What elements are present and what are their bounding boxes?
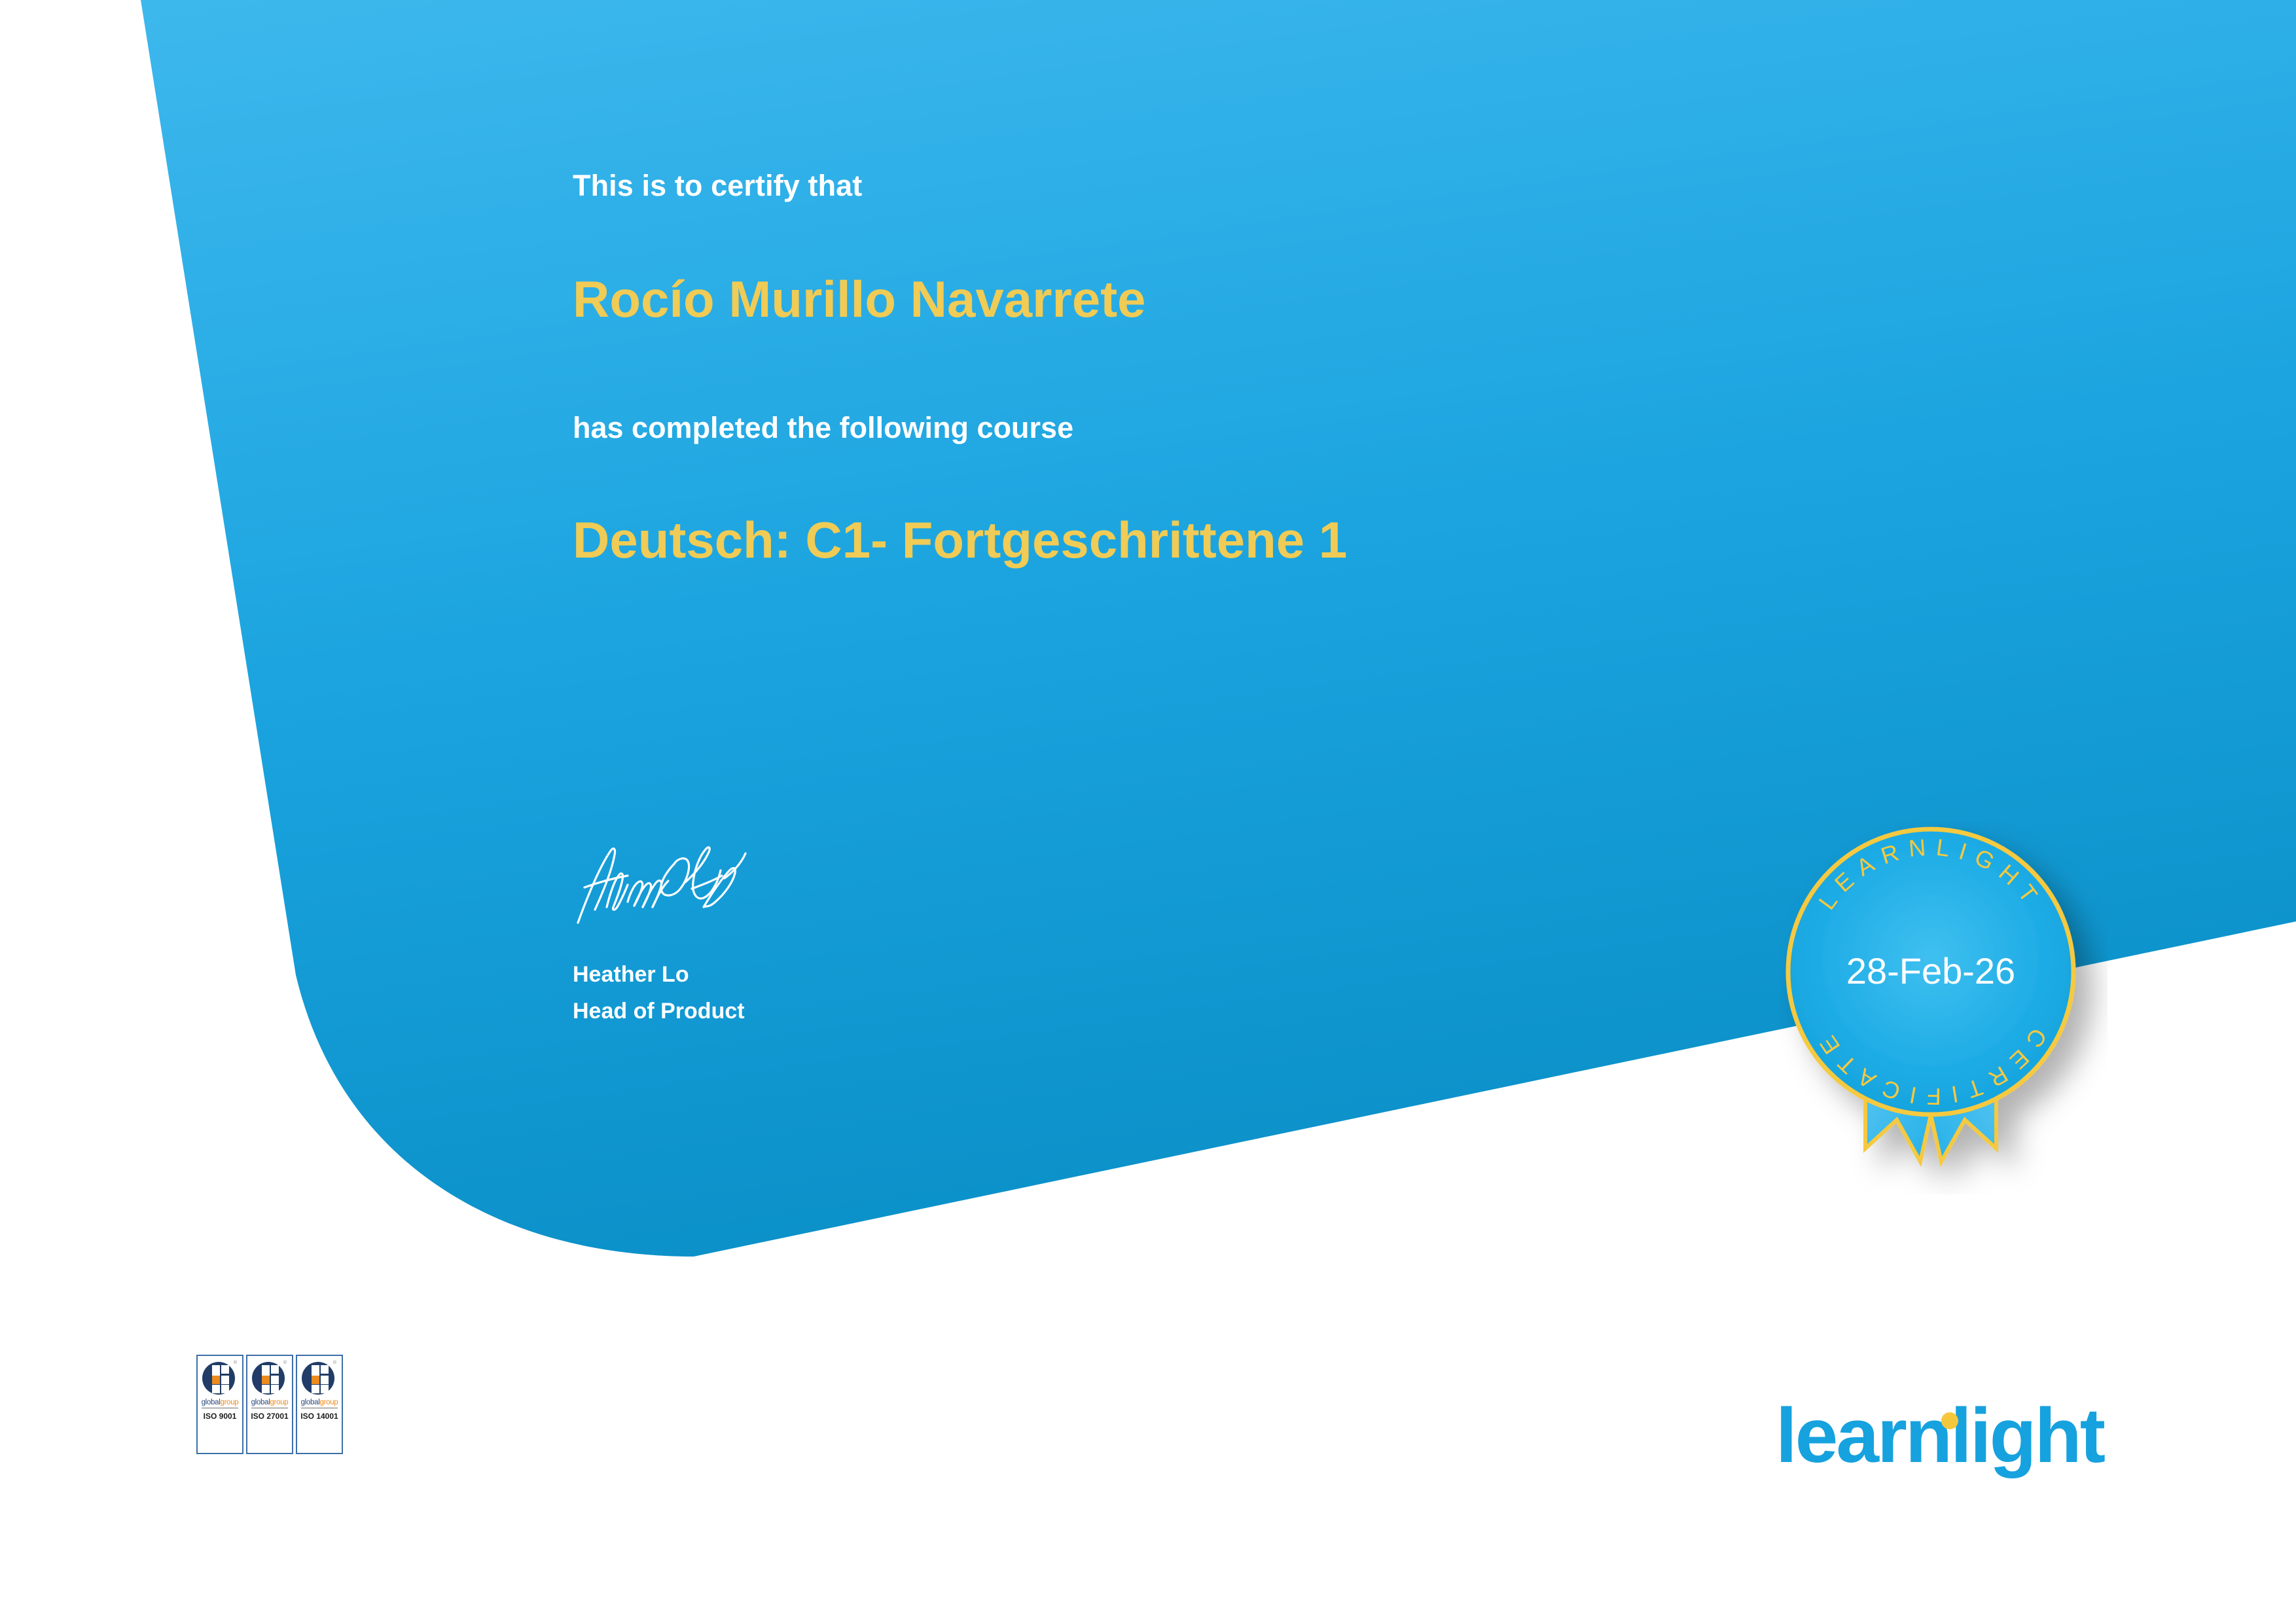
course-name: Deutsch: C1- Fortgeschrittene 1 xyxy=(573,510,1347,570)
signature-image xyxy=(573,844,808,936)
globalgroup-wordmark: globalgroup xyxy=(301,1399,338,1408)
globalgroup-word-group: group xyxy=(319,1399,338,1406)
globalgroup-logo-icon: ® xyxy=(251,1360,288,1397)
signer-title: Head of Product xyxy=(573,999,745,1024)
globalgroup-word-global: global xyxy=(301,1399,320,1406)
iso-standard-label: ISO 27001 xyxy=(251,1412,288,1421)
globalgroup-wordmark: globalgroup xyxy=(202,1399,239,1408)
seal-date: 28-Feb-26 xyxy=(1846,950,2015,991)
globalgroup-word-group: group xyxy=(270,1399,288,1406)
iso-certification-badges: ® globalgroup ISO 9001 ® globalgroup ISO… xyxy=(196,1355,343,1454)
recipient-name: Rocío Murillo Navarrete xyxy=(573,270,1146,329)
completed-line: has completed the following course xyxy=(573,411,1073,445)
learnlight-logo: learnlight xyxy=(1776,1397,2083,1495)
handwritten-signature-icon xyxy=(573,844,808,936)
learnlight-dot-icon xyxy=(1941,1412,1958,1429)
iso-badge: ® globalgroup ISO 27001 xyxy=(246,1355,293,1454)
registered-mark: ® xyxy=(283,1361,287,1365)
learnlight-wordmark: learnlight xyxy=(1776,1397,2104,1474)
globalgroup-word-global: global xyxy=(251,1399,270,1406)
iso-badge: ® globalgroup ISO 9001 xyxy=(196,1355,243,1454)
iso-standard-label: ISO 9001 xyxy=(204,1412,237,1421)
registered-mark: ® xyxy=(333,1361,336,1365)
globalgroup-logo-icon: ® xyxy=(202,1360,238,1397)
globalgroup-word-group: group xyxy=(220,1399,238,1406)
globalgroup-wordmark: globalgroup xyxy=(251,1399,289,1408)
globalgroup-word-global: global xyxy=(202,1399,221,1406)
certify-line: This is to certify that xyxy=(573,169,862,203)
registered-mark: ® xyxy=(234,1361,237,1365)
iso-standard-label: ISO 14001 xyxy=(300,1412,338,1421)
signer-name: Heather Lo xyxy=(573,962,689,988)
iso-badge: ® globalgroup ISO 14001 xyxy=(296,1355,343,1454)
certificate-background-shape xyxy=(0,0,2296,1623)
globalgroup-logo-icon: ® xyxy=(301,1360,338,1397)
certificate-seal: LEARNLIGHT CERTIFICATE 28-Feb-26 xyxy=(1780,821,2108,1194)
